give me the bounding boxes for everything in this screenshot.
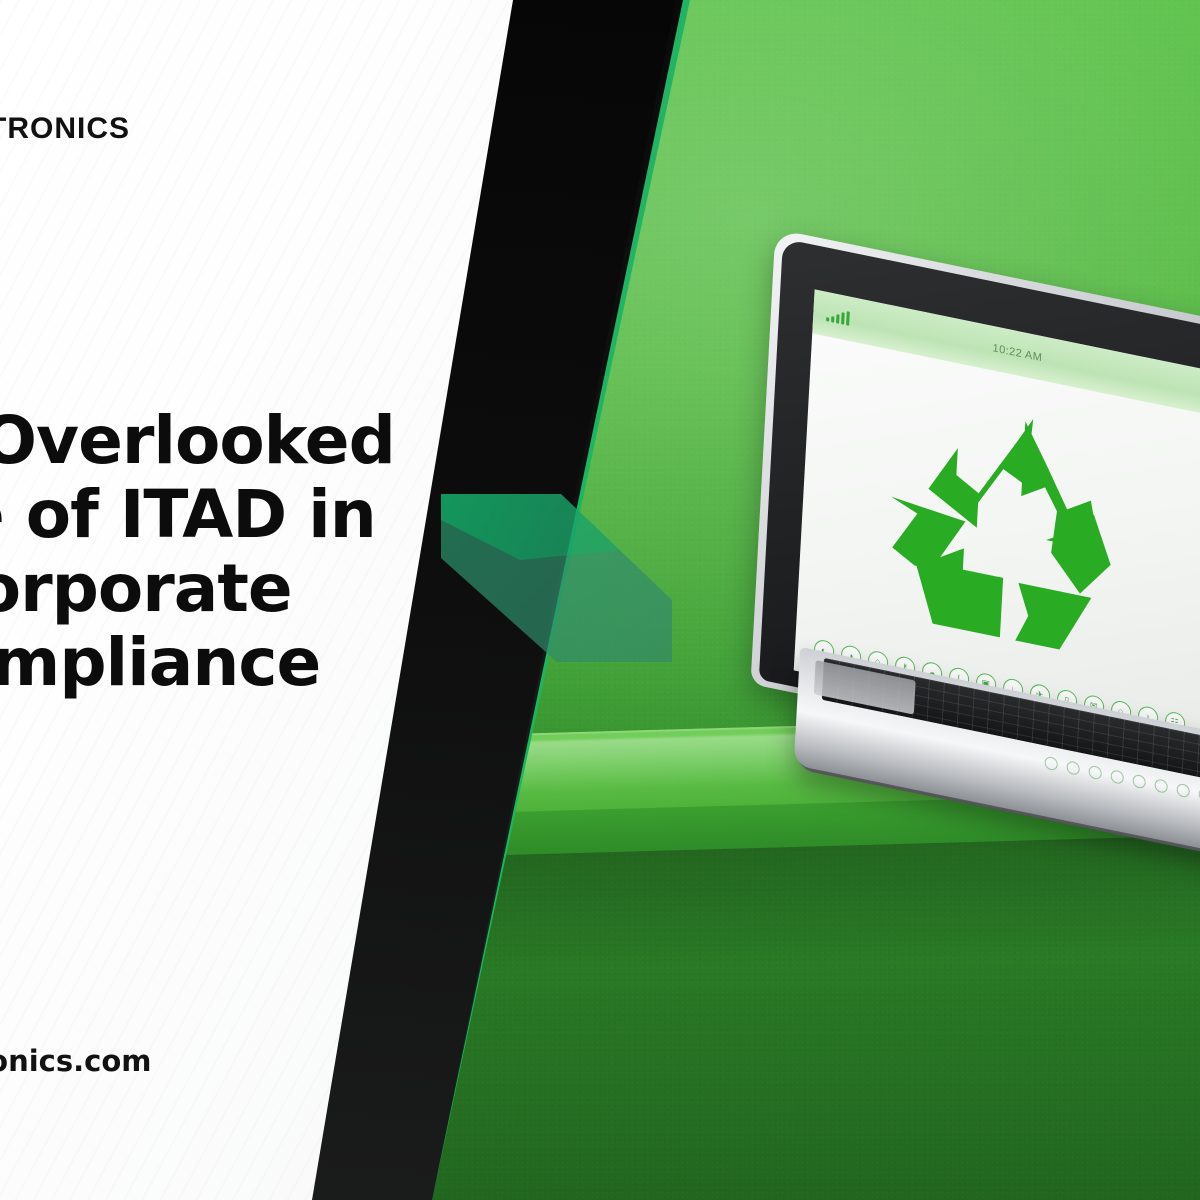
banner-canvas: 10:22 AM ◐ ◑ bbox=[0, 0, 1200, 1200]
website-url: www.electronics.com bbox=[0, 1044, 151, 1078]
brand-logo: ELECTRONICS bbox=[0, 112, 130, 146]
shelf-drop-shadow bbox=[470, 832, 1200, 973]
laptop-device: 10:22 AM ◐ ◑ bbox=[735, 265, 1200, 835]
screen-status-bar: 10:22 AM bbox=[812, 289, 1200, 417]
page-title: The Overlooked Role of ITAD in Corporate… bbox=[0, 404, 430, 700]
status-bar-clock: 10:22 AM bbox=[813, 305, 1200, 401]
recycle-symbol-icon bbox=[876, 384, 1139, 675]
